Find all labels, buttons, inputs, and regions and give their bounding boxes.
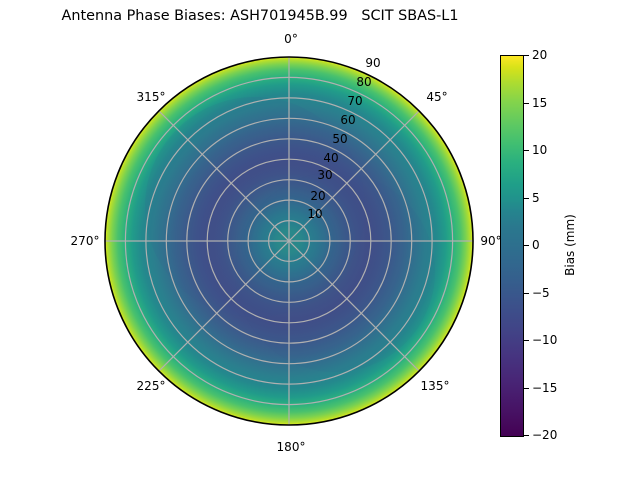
colorbar-tick-label-4: 0	[532, 238, 540, 252]
figure-canvas: Antenna Phase Biases: ASH701945B.99 SCIT…	[0, 0, 640, 480]
colorbar-tick-mark-0	[524, 55, 529, 56]
colorbar-tick-label-3: 5	[532, 191, 540, 205]
colorbar-tick-mark-6	[524, 340, 529, 341]
colorbar-tick-mark-4	[524, 245, 529, 246]
angular-tick-label-3: 135°	[421, 379, 450, 393]
colorbar-tick-mark-3	[524, 198, 529, 199]
radial-tick-label-1: 20	[310, 189, 325, 203]
colorbar-tick-label-1: 15	[532, 96, 547, 110]
angular-tick-label-1: 45°	[426, 90, 447, 104]
colorbar-gradient	[500, 55, 524, 437]
radial-tick-label-5: 60	[340, 113, 355, 127]
angular-gridlines	[105, 57, 473, 425]
colorbar-tick-label-8: −20	[532, 428, 557, 442]
radial-tick-label-4: 50	[332, 132, 347, 146]
colorbar-tick-label-6: −10	[532, 333, 557, 347]
angular-tick-label-4: 180°	[277, 440, 306, 454]
angular-tick-label-5: 225°	[137, 379, 166, 393]
colorbar-tick-mark-1	[524, 103, 529, 104]
colorbar-tick-mark-5	[524, 293, 529, 294]
colorbar: 20151050−5−10−15−20	[500, 55, 522, 435]
page-title: Antenna Phase Biases: ASH701945B.99 SCIT…	[0, 8, 520, 24]
radial-tick-label-0: 10	[307, 207, 322, 221]
polar-axes	[105, 57, 473, 425]
radial-tick-label-6: 70	[347, 94, 362, 108]
radial-tick-label-7: 80	[356, 75, 371, 89]
colorbar-axis-label: Bias (mm)	[563, 214, 577, 276]
colorbar-tick-label-2: 10	[532, 143, 547, 157]
angular-tick-label-7: 315°	[137, 90, 166, 104]
radial-tick-label-2: 30	[317, 168, 332, 182]
angular-tick-label-0: 0°	[284, 32, 298, 46]
polar-heatmap	[105, 57, 473, 425]
colorbar-tick-label-0: 20	[532, 48, 547, 62]
angular-tick-label-6: 270°	[71, 234, 100, 248]
colorbar-tick-mark-7	[524, 388, 529, 389]
colorbar-tick-mark-8	[524, 435, 529, 436]
colorbar-tick-label-5: −5	[532, 286, 550, 300]
colorbar-tick-label-7: −15	[532, 381, 557, 395]
radial-tick-label-3: 40	[323, 151, 338, 165]
radial-tick-label-8: 90	[365, 56, 380, 70]
angular-tick-label-2: 90°	[480, 234, 501, 248]
colorbar-tick-mark-2	[524, 150, 529, 151]
